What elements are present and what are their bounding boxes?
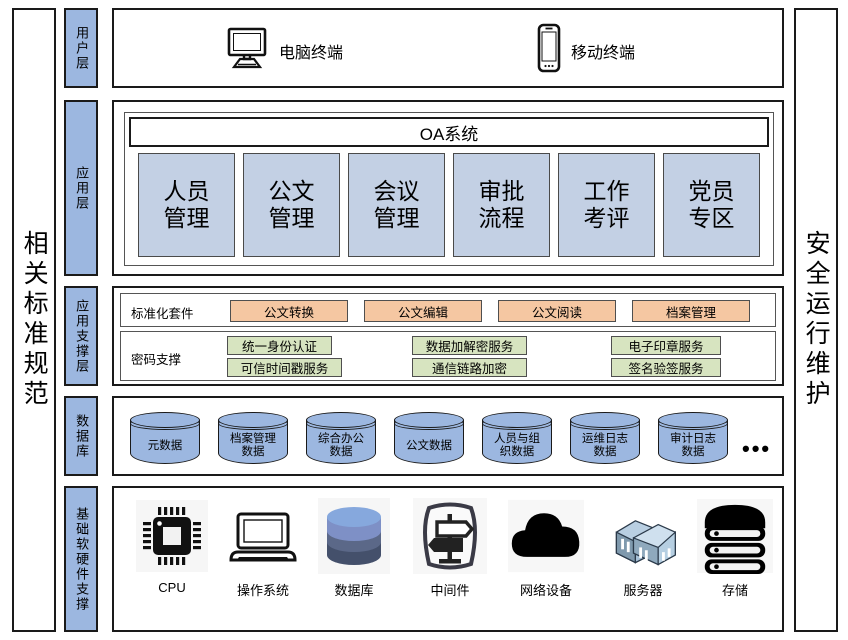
datastore-integrated-office[interactable]: 综合办公 数据 — [306, 412, 376, 464]
datastore-audit-log[interactable]: 审计日志 数据 — [658, 412, 728, 464]
architecture-diagram: 相关标准规范 安全运行维护 用户层 应用层 应用支撑层 数据库 基础软硬件支撑 — [0, 0, 848, 640]
suite-item-document-editing[interactable]: 公文编辑 — [364, 300, 482, 322]
datastore-personnel-organization[interactable]: 人员与组 织数据 — [482, 412, 552, 464]
datastore-line-1: 元数据 — [148, 440, 183, 453]
laptop-icon — [225, 498, 301, 574]
infra-middleware[interactable]: 中间件 — [402, 498, 498, 599]
oa-system-title-bar: OA系统 — [129, 117, 769, 147]
database-more-ellipsis: ••• — [742, 438, 771, 460]
layer-tag-database-label: 数据库 — [74, 414, 88, 459]
database-cylinder-icon — [316, 498, 392, 574]
datastore-label: 公文数据 — [394, 428, 464, 464]
crypto-support-row: 密码支撑 统一身份认证 数据加解密服务 电子印章服务 可信时间戳服务 通信链路加… — [120, 331, 776, 381]
module-line-1: 人员 — [164, 178, 210, 205]
infra-database-label: 数据库 — [334, 580, 373, 599]
datastore-label: 运维日志 数据 — [570, 428, 640, 464]
datastore-label: 人员与组 织数据 — [482, 428, 552, 464]
infrastructure-layer-panel: CPU 操作系统 — [112, 486, 784, 632]
security-ops-rail-label: 安全运行维护 — [803, 230, 829, 410]
cylinder-top — [658, 412, 728, 428]
crypto-item-signature-verification-service[interactable]: 签名验签服务 — [611, 358, 721, 377]
crypto-item-data-encryption-service[interactable]: 数据加解密服务 — [412, 336, 527, 355]
module-line-2: 流程 — [479, 205, 525, 232]
user-layer-panel: 电脑终端 移动终端 — [112, 8, 784, 88]
datastore-line-1: 审计日志 — [670, 433, 716, 446]
datastore-archive-management[interactable]: 档案管理 数据 — [218, 412, 288, 464]
datastore-line-2: 数据 — [594, 446, 617, 459]
server-rack-icon — [605, 498, 681, 574]
infra-network-device[interactable]: 网络设备 — [498, 498, 594, 599]
standards-rail: 相关标准规范 — [12, 8, 56, 632]
application-support-layer-panel: 标准化套件 公文转换 公文编辑 公文阅读 档案管理 密码支撑 统一身份认证 数据… — [112, 286, 784, 386]
mobile-phone-icon — [536, 23, 562, 78]
standard-suite-label: 标准化套件 — [131, 303, 194, 322]
infra-operating-system-label: 操作系统 — [237, 580, 289, 599]
terminal-mobile: 移动终端 — [536, 23, 635, 78]
layer-tag-user: 用户层 — [64, 8, 98, 88]
cylinder-top — [306, 412, 376, 428]
crypto-item-communication-link-encryption[interactable]: 通信链路加密 — [412, 358, 527, 377]
cylinder-top — [218, 412, 288, 428]
crypto-item-trusted-timestamp-service[interactable]: 可信时间戳服务 — [227, 358, 342, 377]
security-ops-rail: 安全运行维护 — [794, 8, 838, 632]
application-layer-panel: OA系统 人员 管理 公文 管理 会议 管理 审批 流程 工作 考评 — [112, 100, 784, 276]
module-line-1: 审批 — [479, 178, 525, 205]
signpost-icon — [412, 498, 488, 574]
datastore-label: 档案管理 数据 — [218, 428, 288, 464]
crypto-support-label: 密码支撑 — [131, 349, 181, 368]
module-line-1: 公文 — [269, 178, 315, 205]
terminal-mobile-label: 移动终端 — [571, 39, 635, 63]
layer-tag-application-support-label: 应用支撑层 — [74, 299, 88, 374]
datastore-line-1: 公文数据 — [406, 440, 452, 453]
module-line-1: 党员 — [689, 178, 735, 205]
infra-cpu[interactable]: CPU — [124, 498, 220, 595]
storage-stack-icon — [697, 498, 773, 574]
module-line-2: 管理 — [164, 205, 210, 232]
module-line-2: 管理 — [269, 205, 315, 232]
module-line-1: 会议 — [374, 178, 420, 205]
layer-tag-application: 应用层 — [64, 100, 98, 276]
layer-tag-infrastructure: 基础软硬件支撑 — [64, 486, 98, 632]
infra-storage-label: 存储 — [722, 580, 748, 599]
terminal-desktop: 电脑终端 — [224, 26, 343, 75]
terminal-desktop-label: 电脑终端 — [279, 39, 343, 63]
module-line-2: 专区 — [689, 205, 735, 232]
datastore-line-1: 人员与组 — [494, 433, 540, 446]
module-meeting-management[interactable]: 会议 管理 — [348, 153, 445, 257]
cylinder-top — [482, 412, 552, 428]
cloud-icon — [508, 498, 584, 574]
infra-middleware-label: 中间件 — [430, 580, 469, 599]
datastore-line-2: 数据 — [682, 446, 705, 459]
layer-tag-application-label: 应用层 — [74, 166, 88, 211]
database-layer-panel: 元数据 档案管理 数据 综合办公 数据 — [112, 396, 784, 476]
infra-operating-system[interactable]: 操作系统 — [215, 498, 311, 599]
infra-server-label: 服务器 — [623, 580, 662, 599]
datastore-label: 综合办公 数据 — [306, 428, 376, 464]
module-line-2: 考评 — [584, 205, 630, 232]
crypto-item-unified-identity-auth[interactable]: 统一身份认证 — [227, 336, 332, 355]
suite-item-archive-management[interactable]: 档案管理 — [632, 300, 750, 322]
datastore-line-1: 档案管理 — [230, 433, 276, 446]
datastore-line-1: 综合办公 — [318, 433, 364, 446]
cylinder-top — [130, 412, 200, 428]
oa-system-title: OA系统 — [420, 120, 479, 145]
infra-database[interactable]: 数据库 — [306, 498, 402, 599]
datastore-line-2: 数据 — [242, 446, 265, 459]
datastore-official-document[interactable]: 公文数据 — [394, 412, 464, 464]
module-personnel-management[interactable]: 人员 管理 — [138, 153, 235, 257]
suite-item-document-reading[interactable]: 公文阅读 — [498, 300, 616, 322]
datastore-label: 元数据 — [130, 428, 200, 464]
standard-suite-row: 标准化套件 公文转换 公文编辑 公文阅读 档案管理 — [120, 293, 776, 327]
module-line-2: 管理 — [374, 205, 420, 232]
layer-tag-user-label: 用户层 — [74, 26, 88, 71]
standards-rail-label: 相关标准规范 — [21, 230, 47, 410]
cylinder-top — [570, 412, 640, 428]
datastore-metadata[interactable]: 元数据 — [130, 412, 200, 464]
module-party-member-zone[interactable]: 党员 专区 — [663, 153, 760, 257]
infra-cpu-label: CPU — [158, 580, 185, 595]
module-document-management[interactable]: 公文 管理 — [243, 153, 340, 257]
layer-tag-application-support: 应用支撑层 — [64, 286, 98, 386]
layer-tag-database: 数据库 — [64, 396, 98, 476]
crypto-item-electronic-seal-service[interactable]: 电子印章服务 — [611, 336, 721, 355]
datastore-ops-log[interactable]: 运维日志 数据 — [570, 412, 640, 464]
infra-storage[interactable]: 存储 — [687, 498, 783, 599]
layer-tag-infrastructure-label: 基础软硬件支撑 — [74, 507, 88, 612]
module-approval-process[interactable]: 审批 流程 — [453, 153, 550, 257]
infra-network-device-label: 网络设备 — [520, 580, 572, 599]
cpu-chip-icon — [134, 498, 210, 574]
oa-system-container: OA系统 人员 管理 公文 管理 会议 管理 审批 流程 工作 考评 — [124, 112, 774, 266]
datastore-line-1: 运维日志 — [582, 433, 628, 446]
cylinder-top — [394, 412, 464, 428]
suite-item-document-conversion[interactable]: 公文转换 — [230, 300, 348, 322]
datastore-line-2: 数据 — [330, 446, 353, 459]
datastore-label: 审计日志 数据 — [658, 428, 728, 464]
module-work-evaluation[interactable]: 工作 考评 — [558, 153, 655, 257]
module-line-1: 工作 — [584, 178, 630, 205]
datastore-line-2: 织数据 — [500, 446, 535, 459]
desktop-computer-icon — [224, 26, 270, 75]
infra-server[interactable]: 服务器 — [595, 498, 691, 599]
